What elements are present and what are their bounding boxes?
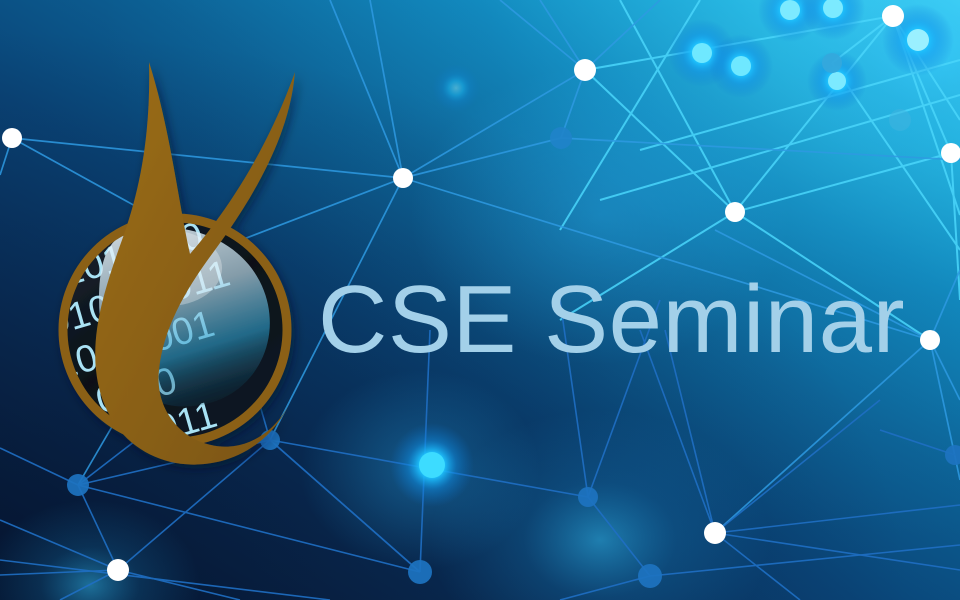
cse-logo: 110110 101011010 0010101011 110111001 01… bbox=[0, 0, 960, 600]
cse-seminar-banner: 110110 101011010 0010101011 110111001 01… bbox=[0, 0, 960, 600]
logo-group: 110110 101011010 0010101011 110111001 01… bbox=[0, 62, 295, 478]
